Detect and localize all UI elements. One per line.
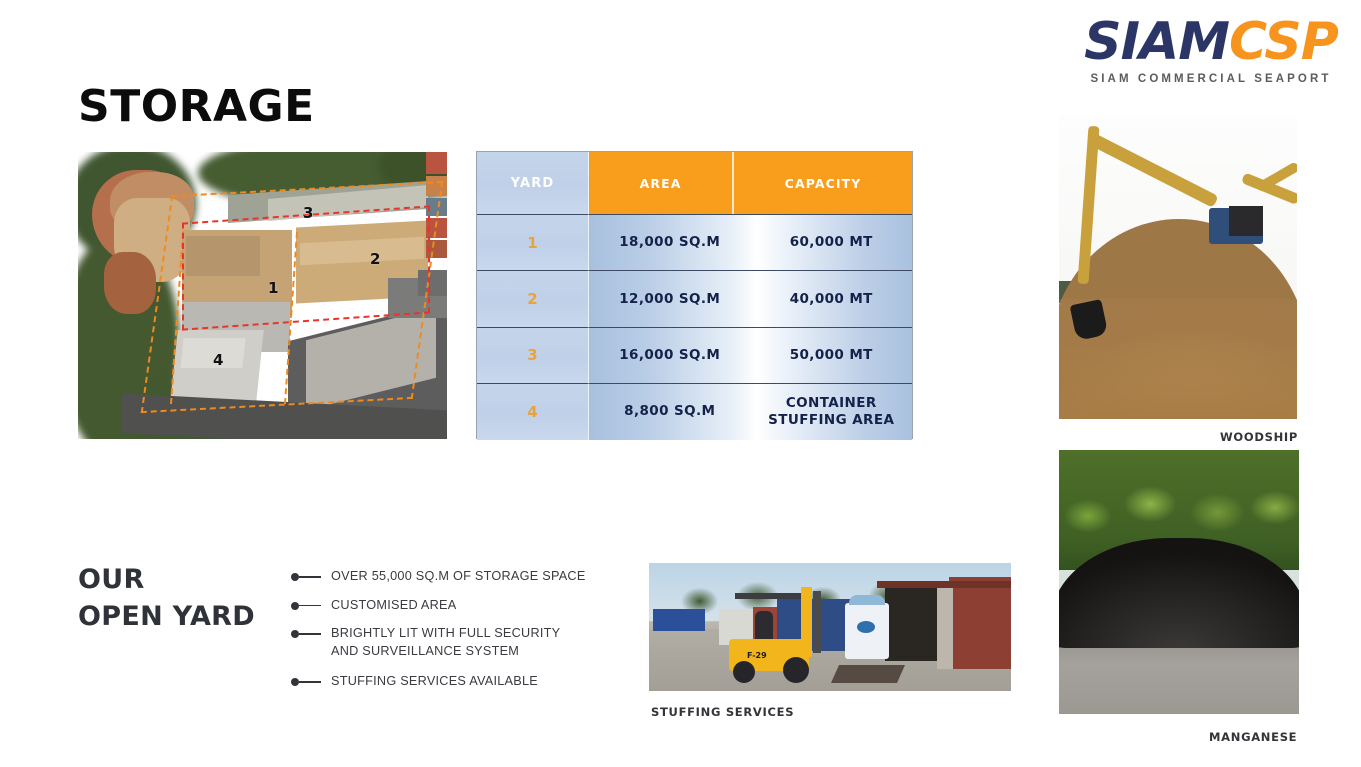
list-item-label: STUFFING SERVICES AVAILABLE: [331, 673, 538, 691]
forklift-id-label: F-29: [747, 651, 767, 660]
bullet-marker-icon: [291, 625, 331, 638]
cell-yard: 3: [477, 327, 589, 383]
container-red-right: [949, 577, 1011, 669]
cell-yard: 4: [477, 383, 589, 439]
cell-yard: 1: [477, 214, 589, 270]
yard-number: 1: [527, 234, 537, 252]
yard-marker-3: 3: [303, 204, 313, 222]
yard-marker-2: 2: [370, 250, 380, 268]
red-dashed-outline: [182, 205, 430, 330]
logo-subtitle: SIAM COMMERCIAL SEAPORT: [1083, 73, 1339, 85]
cell-area: 8,800 SQ.M: [589, 403, 751, 420]
forklift-overhead-guard: [735, 593, 801, 599]
container-top-rail: [877, 581, 1011, 588]
forklift-front-wheel: [783, 657, 809, 683]
list-item-label: BRIGHTLY LIT WITH FULL SECURITY AND SURV…: [331, 625, 571, 660]
table-header-capacity: CAPACITY: [734, 152, 912, 214]
row-data: 16,000 SQ.M 50,000 MT: [589, 327, 912, 383]
cell-area: 18,000 SQ.M: [589, 234, 751, 251]
container-door-panel: [937, 585, 953, 669]
bullet-marker-icon: [291, 568, 331, 581]
logo-wordmark: SIAMCSP: [1083, 14, 1339, 70]
table-header-area: AREA: [589, 152, 732, 214]
list-item-label: OVER 55,000 SQ.M OF STORAGE SPACE: [331, 568, 586, 586]
table-header-yard: YARD: [477, 152, 589, 214]
table-header-row: YARD AREA CAPACITY: [477, 152, 912, 214]
manganese-caption: MANGANESE: [1209, 730, 1297, 744]
list-item-label: CUSTOMISED AREA: [331, 597, 456, 615]
cell-capacity: 50,000 MT: [751, 347, 913, 364]
cell-yard: 2: [477, 270, 589, 326]
stuffing-services-photo: F-29: [649, 563, 1011, 691]
forklift-driver: [755, 611, 773, 639]
list-item: STUFFING SERVICES AVAILABLE: [291, 673, 601, 691]
list-item: BRIGHTLY LIT WITH FULL SECURITY AND SURV…: [291, 625, 601, 660]
container-stack: [426, 152, 447, 174]
cell-capacity: 40,000 MT: [751, 291, 913, 308]
woodship-photo: [1059, 116, 1297, 419]
cell-area: 16,000 SQ.M: [589, 347, 751, 364]
bullet-marker-icon: [291, 673, 331, 686]
cell-capacity: CONTAINER STUFFING AREA: [751, 395, 913, 429]
container-blue-fence: [653, 609, 705, 631]
yard-marker-4: 4: [213, 351, 223, 369]
storage-capacity-table: YARD AREA CAPACITY 1 18,000 SQ.M 60,000 …: [476, 151, 913, 439]
row-data: 18,000 SQ.M 60,000 MT: [589, 214, 912, 270]
company-logo: SIAMCSP SIAM COMMERCIAL SEAPORT: [1083, 14, 1339, 94]
cell-capacity: 60,000 MT: [751, 234, 913, 251]
table-row: 2 12,000 SQ.M 40,000 MT: [477, 270, 912, 326]
storage-yard-aerial-photo: 3 2 1 4: [78, 152, 447, 439]
open-yard-heading-line2: OPEN YARD: [78, 598, 255, 635]
table-row: 4 8,800 SQ.M CONTAINER STUFFING AREA: [477, 383, 912, 439]
yard-number: 2: [527, 290, 537, 308]
bulk-bag-logo: [857, 621, 875, 633]
list-item: CUSTOMISED AREA: [291, 597, 601, 615]
open-yard-feature-list: OVER 55,000 SQ.M OF STORAGE SPACE CUSTOM…: [291, 568, 601, 702]
loading-ramp: [831, 665, 905, 683]
forklift-rear-wheel: [733, 661, 755, 683]
bullet-marker-icon: [291, 597, 331, 610]
page-title: STORAGE: [78, 82, 315, 132]
earth-area: [104, 252, 156, 314]
excavator-counterweight: [1229, 206, 1263, 236]
list-item: OVER 55,000 SQ.M OF STORAGE SPACE: [291, 568, 601, 586]
table-row: 1 18,000 SQ.M 60,000 MT: [477, 214, 912, 270]
table-header-yard-label: YARD: [511, 176, 555, 191]
yard-number: 4: [527, 403, 537, 421]
woodship-caption: WOODSHIP: [1220, 430, 1298, 444]
bulk-bag-loop: [849, 595, 885, 605]
open-yard-heading: OUR OPEN YARD: [78, 561, 255, 635]
cell-area: 12,000 SQ.M: [589, 291, 751, 308]
forklift-mast: [801, 587, 812, 657]
table-row: 3 16,000 SQ.M 50,000 MT: [477, 327, 912, 383]
logo-text-siam: SIAM: [1084, 12, 1229, 72]
yard-marker-1: 1: [268, 279, 278, 297]
forklift-mast-inner: [813, 591, 821, 653]
yard-number: 3: [527, 346, 537, 364]
row-data: 12,000 SQ.M 40,000 MT: [589, 270, 912, 326]
stuffing-services-caption: STUFFING SERVICES: [651, 705, 794, 719]
logo-text-csp: CSP: [1229, 12, 1338, 72]
manganese-photo: [1059, 450, 1299, 714]
open-yard-heading-line1: OUR: [78, 561, 255, 598]
row-data: 8,800 SQ.M CONTAINER STUFFING AREA: [589, 383, 912, 439]
